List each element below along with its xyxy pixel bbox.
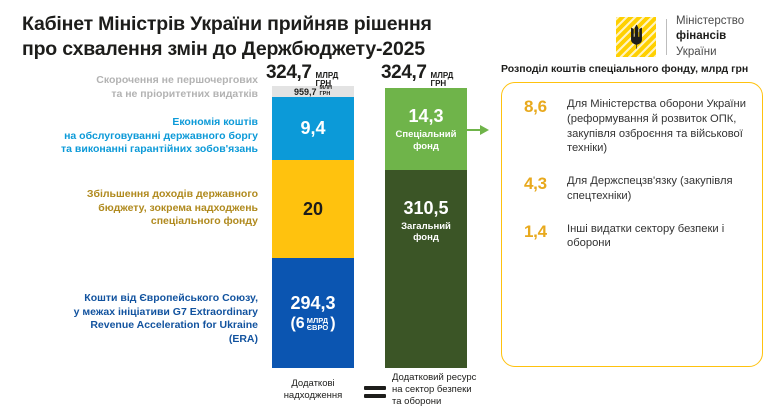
- segment-value-general-fund: 310,5: [385, 198, 467, 219]
- segment-value-special-fund: 14,3: [408, 106, 443, 127]
- sources-total: 324,7 МЛРД ГРН: [266, 62, 372, 88]
- label-expenditure-cuts: Скорочення не першочергових та не пріори…: [18, 74, 258, 101]
- segment-value-era: 294,3: [290, 293, 335, 314]
- list-item: 1,4 Інші видатки сектору безпеки і оборо…: [524, 222, 746, 252]
- stacked-bar-uses: 14,3 Спеціальний фонд 310,5 Загальний фо…: [385, 88, 467, 368]
- panel-item-value: 4,3: [524, 174, 558, 194]
- segment-value-revenue: 20: [303, 199, 323, 220]
- bar-segment-expenditure-cuts: 959,7 МЛН ГРН: [272, 86, 354, 97]
- infographic-canvas: Кабінет Міністрів України прийняв рішенн…: [0, 0, 780, 419]
- page-title: Кабінет Міністрів України прийняв рішенн…: [22, 12, 592, 62]
- green-right-arrow-icon: [458, 124, 492, 136]
- segment-value-savings: 9,4: [300, 118, 325, 139]
- logo-line-1: Міністерство: [676, 14, 744, 29]
- label-eu-era-funds: Кошти від Європейського Союзу, у межах і…: [18, 292, 258, 347]
- bar-segment-era: 294,3 (6 МЛРД ЄВРО ): [272, 258, 354, 368]
- equals-sign-icon: [364, 386, 386, 398]
- ministry-of-finance-logo: Міністерство фінансів України: [616, 14, 744, 60]
- stacked-bar-sources: 959,7 МЛН ГРН 9,4 20 294,3 (6 МЛРД ЄВРО …: [272, 86, 354, 368]
- segment-unit-cuts: МЛН ГРН: [320, 86, 332, 97]
- segment-subvalue-era-euro: (6 МЛРД ЄВРО ): [290, 315, 335, 333]
- segment-value-cuts: 959,7: [294, 87, 317, 97]
- uses-total: 324,7 МЛРД ГРН: [381, 62, 491, 88]
- panel-item-text: Інші видатки сектору безпеки і оборони: [567, 222, 746, 252]
- list-item: 4,3 Для Держспецзв'язку (закупівля спецт…: [524, 174, 746, 204]
- special-fund-breakdown-panel: 8,6 Для Міністерства оборони України (ре…: [501, 82, 763, 367]
- sources-total-value: 324,7: [266, 62, 312, 84]
- bar-segment-general-fund: 310,5 Загальний фонд: [385, 170, 467, 368]
- bar-segment-special-fund: 14,3 Спеціальний фонд: [385, 88, 467, 170]
- logo-divider: [666, 19, 667, 55]
- segment-label-general-fund: Загальний фонд: [385, 221, 467, 244]
- uses-total-unit: МЛРД ГРН: [431, 72, 454, 88]
- logo-text: Міністерство фінансів України: [676, 14, 744, 60]
- label-revenue-increase: Збільшення доходів державного бюджету, з…: [18, 188, 258, 229]
- logo-line-2: фінансів: [676, 30, 726, 42]
- panel-item-text: Для Держспецзв'язку (закупівля спецтехні…: [567, 174, 746, 204]
- segment-label-special-fund: Спеціальний фонд: [396, 129, 457, 152]
- panel-item-value: 8,6: [524, 97, 558, 117]
- caption-additional-defense-resource: Додатковий ресурс на сектор безпеки та о…: [392, 372, 522, 408]
- bar-segment-debt-savings: 9,4: [272, 97, 354, 160]
- bar-segment-revenue: 20: [272, 160, 354, 258]
- caption-additional-revenues: Додаткові надходження: [262, 378, 364, 402]
- panel-item-text: Для Міністерства оборони України (реформ…: [567, 97, 746, 156]
- uses-total-value: 324,7: [381, 62, 427, 84]
- logo-line-3: України: [676, 45, 744, 60]
- panel-item-value: 1,4: [524, 222, 558, 242]
- list-item: 8,6 Для Міністерства оборони України (ре…: [524, 97, 746, 156]
- label-debt-savings: Економія коштів на обслуговуванні держав…: [18, 116, 258, 157]
- panel-title: Розподіл коштів спеціального фонду, млрд…: [501, 63, 748, 75]
- trident-coat-of-arms-icon: [616, 17, 656, 57]
